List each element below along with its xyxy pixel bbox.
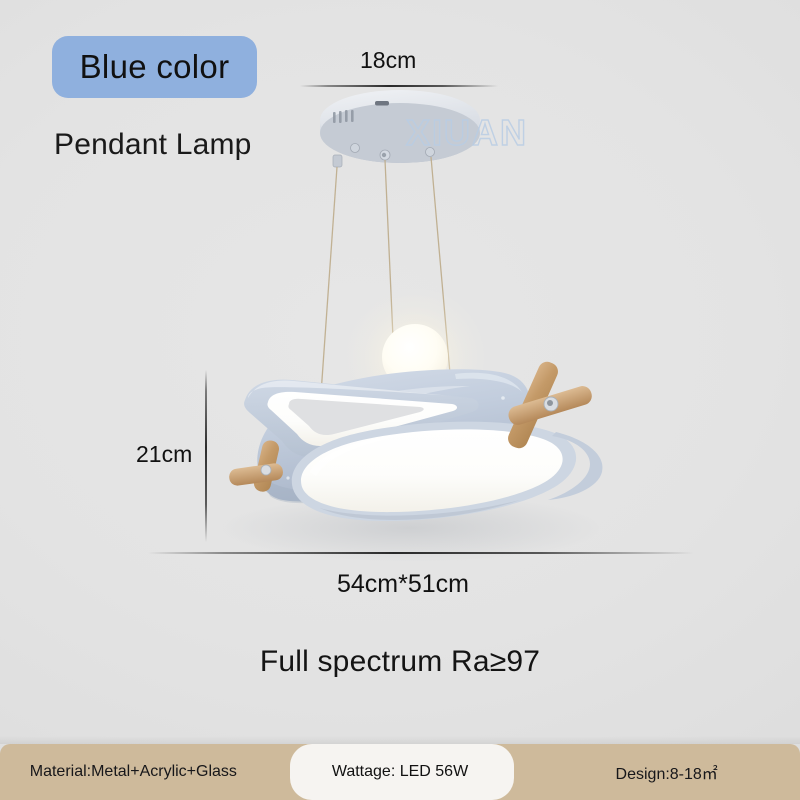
lamp-illustration [0, 0, 800, 800]
spectrum-label: Full spectrum Ra≥97 [0, 645, 800, 679]
spec-wattage: Wattage: LED 56W [267, 763, 534, 781]
globe-bulb [382, 324, 448, 390]
spec-design-area: Design:8-18㎡ [533, 760, 800, 784]
spec-bar: Material:Metal+Acrylic+Glass Wattage: LE… [0, 744, 800, 800]
lower-wing-led [292, 422, 603, 521]
bottom-bar-shadow [0, 736, 800, 744]
dimension-line-height [205, 370, 207, 542]
product-info-page: Blue color Pendant Lamp [0, 0, 800, 800]
spec-material: Material:Metal+Acrylic+Glass [0, 763, 267, 781]
dimension-label-body-size: 54cm*51cm [337, 570, 469, 599]
dimension-label-canopy-width: 18cm [360, 47, 416, 74]
wooden-tail-left [228, 439, 284, 493]
upper-wing-led [244, 380, 479, 458]
dimension-line-body-size [148, 552, 694, 554]
product-type-label: Pendant Lamp [54, 128, 252, 162]
suspension-wires [320, 157, 452, 408]
color-badge-label: Blue color [52, 36, 257, 98]
wooden-propeller [505, 359, 594, 451]
airplane-fuselage [257, 369, 529, 503]
dimension-line-canopy-width [300, 85, 498, 87]
brand-watermark: XIUAN [406, 112, 528, 154]
dimension-label-height: 21cm [136, 441, 192, 468]
